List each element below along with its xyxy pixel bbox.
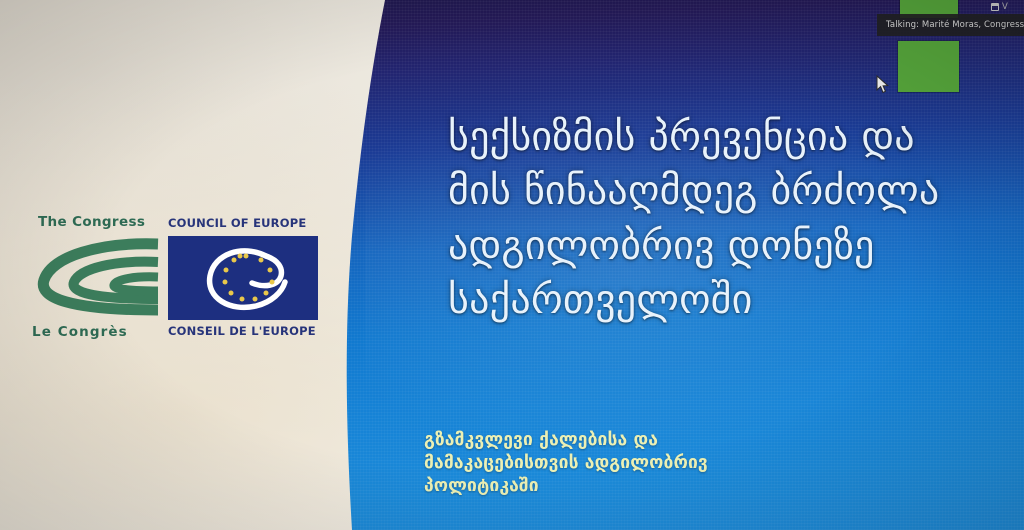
council-of-europe-logo: COUNCIL OF EUROPE bbox=[168, 214, 320, 342]
slide-subtitle-line-3: პოლიტიკაში bbox=[424, 475, 844, 498]
council-of-europe-flag-icon bbox=[168, 236, 318, 320]
status-indicator[interactable]: V bbox=[991, 2, 1008, 12]
slide-subtitle-line-1: გზამკვლევი ქალებისა და bbox=[424, 429, 844, 452]
calendar-icon bbox=[991, 3, 999, 11]
slide-subtitle-line-2: მამაკაცებისთვის ადგილობრივ bbox=[424, 452, 844, 475]
congress-swoosh-icon bbox=[30, 236, 160, 318]
coe-logo-bottom-label: CONSEIL DE L'EUROPE bbox=[168, 324, 320, 338]
screenshot-root: სექსიზმის პრევენცია და მის წინააღმდეგ ბრ… bbox=[0, 0, 1024, 530]
congress-logo-top-label: The Congress bbox=[38, 214, 170, 230]
slide-title-line-4: საქართველოში bbox=[448, 273, 1008, 327]
congress-logo-bottom-label: Le Congrès bbox=[32, 324, 164, 340]
slide-title-line-2: მის წინააღმდეგ ბრძოლა bbox=[448, 164, 1008, 218]
active-speaker-tooltip: Talking: Marité Moras, Congress ... bbox=[877, 14, 1024, 36]
video-participant-tile[interactable] bbox=[898, 41, 959, 92]
coe-flag-artwork bbox=[168, 236, 318, 320]
slide-title: სექსიზმის პრევენცია და მის წინააღმდეგ ბრ… bbox=[448, 110, 1008, 328]
logo-lockup: The Congress Le Congrès COUNCIL OF EUROP… bbox=[30, 214, 322, 342]
coe-logo-top-label: COUNCIL OF EUROPE bbox=[168, 216, 320, 230]
slide-title-line-1: სექსიზმის პრევენცია და bbox=[448, 110, 1008, 164]
slide-subtitle: გზამკვლევი ქალებისა და მამაკაცებისთვის ა… bbox=[424, 429, 844, 497]
slide-title-line-3: ადგილობრივ დონეზე bbox=[448, 219, 1008, 273]
congress-logo: The Congress Le Congrès bbox=[30, 214, 160, 342]
status-indicator-label: V bbox=[1002, 2, 1008, 12]
